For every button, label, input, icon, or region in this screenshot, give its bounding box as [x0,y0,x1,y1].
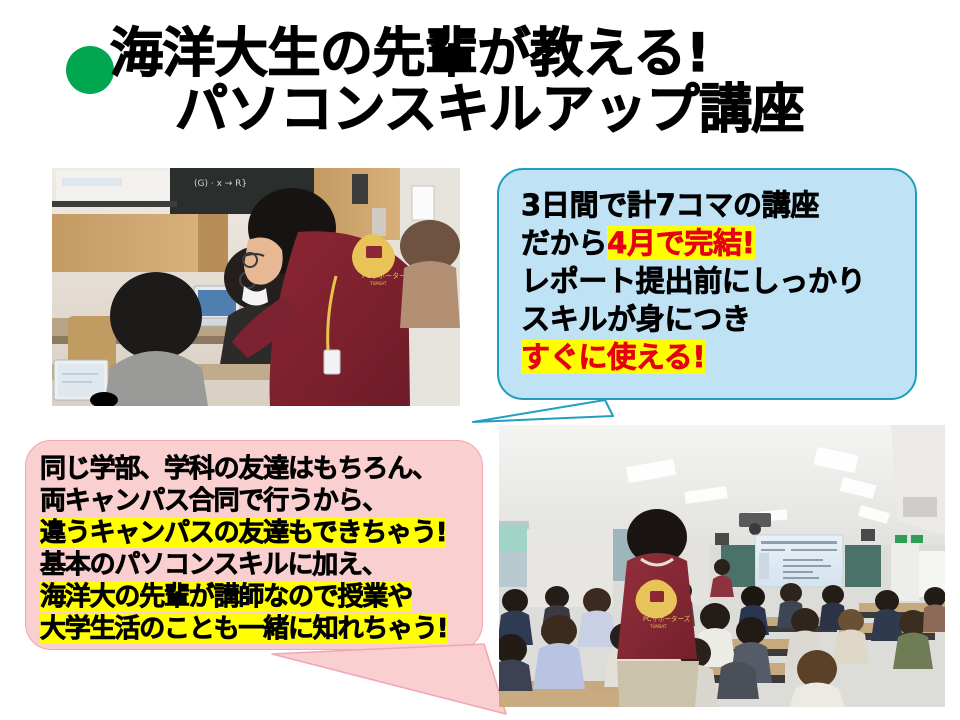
text-run: レポート提出前にしっかり [521,264,865,298]
photo-lecture: PCサポーターズ TUMSAT [499,425,945,707]
flyer-canvas: 海洋大生の先輩が教える! パソコンスキルアップ講座 [0,0,960,720]
green-circle-bullet-icon [66,46,114,94]
text-run: 同じ学部、学科の友達はもちろん、 [40,454,437,484]
title-line-1: 海洋大生の先輩が教える! [110,24,710,84]
svg-text:PCサポーターズ: PCサポーターズ [643,614,691,623]
bubble-blue-line-5: すぐに使える! [521,338,915,376]
svg-text:(G) · x → R}: (G) · x → R} [194,179,247,189]
title-line-2: パソコンスキルアップ講座 [175,80,804,140]
bubble-blue-text: 3日間で計7コマの講座 だから4月で完結! レポート提出前にしっかり スキルが身… [521,186,915,376]
text-run: スキルが身につき [521,302,751,336]
bubble-blue-line-1: 3日間で計7コマの講座 [521,186,915,224]
text-run-highlight: 違うキャンパスの友達もできちゃう! [40,518,446,548]
bubble-blue-line-4: スキルが身につき [521,300,915,338]
bubble-blue-line-2: だから4月で完結! [521,224,915,262]
bubble-blue: 3日間で計7コマの講座 だから4月で完結! レポート提出前にしっかり スキルが身… [497,168,917,400]
bubble-pink: 同じ学部、学科の友達はもちろん、 両キャンパス合同で行うから、 違うキャンパスの… [25,440,483,650]
text-run: だから [521,226,607,260]
bubble-pink-line-2: 両キャンパス合同で行うから、 [40,485,482,517]
photo-lecture-illustration: PCサポーターズ TUMSAT [499,425,945,707]
text-run-highlight: 大学生活のことも一緒に知れちゃう! [40,614,447,644]
page-title: 海洋大生の先輩が教える! パソコンスキルアップ講座 [0,18,960,148]
photo-classroom-illustration: (G) · x → R} [52,168,460,406]
bubble-pink-line-4: 基本のパソコンスキルに加え、 [40,549,482,581]
text-run-highlight: 4月で完結! [607,226,755,260]
bubble-pink-text: 同じ学部、学科の友達はもちろん、 両キャンパス合同で行うから、 違うキャンパスの… [40,453,482,645]
svg-text:TUMSAT: TUMSAT [369,281,387,286]
bubble-pink-line-6: 大学生活のことも一緒に知れちゃう! [40,613,482,645]
bubble-blue-line-3: レポート提出前にしっかり [521,262,915,300]
bubble-pink-line-3: 違うキャンパスの友達もできちゃう! [40,517,482,549]
svg-text:TUMSAT: TUMSAT [649,624,667,629]
text-run-highlight: 海洋大の先輩が講師なので授業や [40,582,412,612]
text-run: 基本のパソコンスキルに加え、 [40,550,387,580]
text-run-highlight: すぐに使える! [521,340,705,374]
text-run: 両キャンパス合同で行うから、 [40,486,387,516]
text-run: 3日間で計7コマの講座 [521,188,819,222]
bubble-pink-line-1: 同じ学部、学科の友達はもちろん、 [40,453,482,485]
photo-classroom: (G) · x → R} [52,168,460,406]
bubble-pink-line-5: 海洋大の先輩が講師なので授業や [40,581,482,613]
